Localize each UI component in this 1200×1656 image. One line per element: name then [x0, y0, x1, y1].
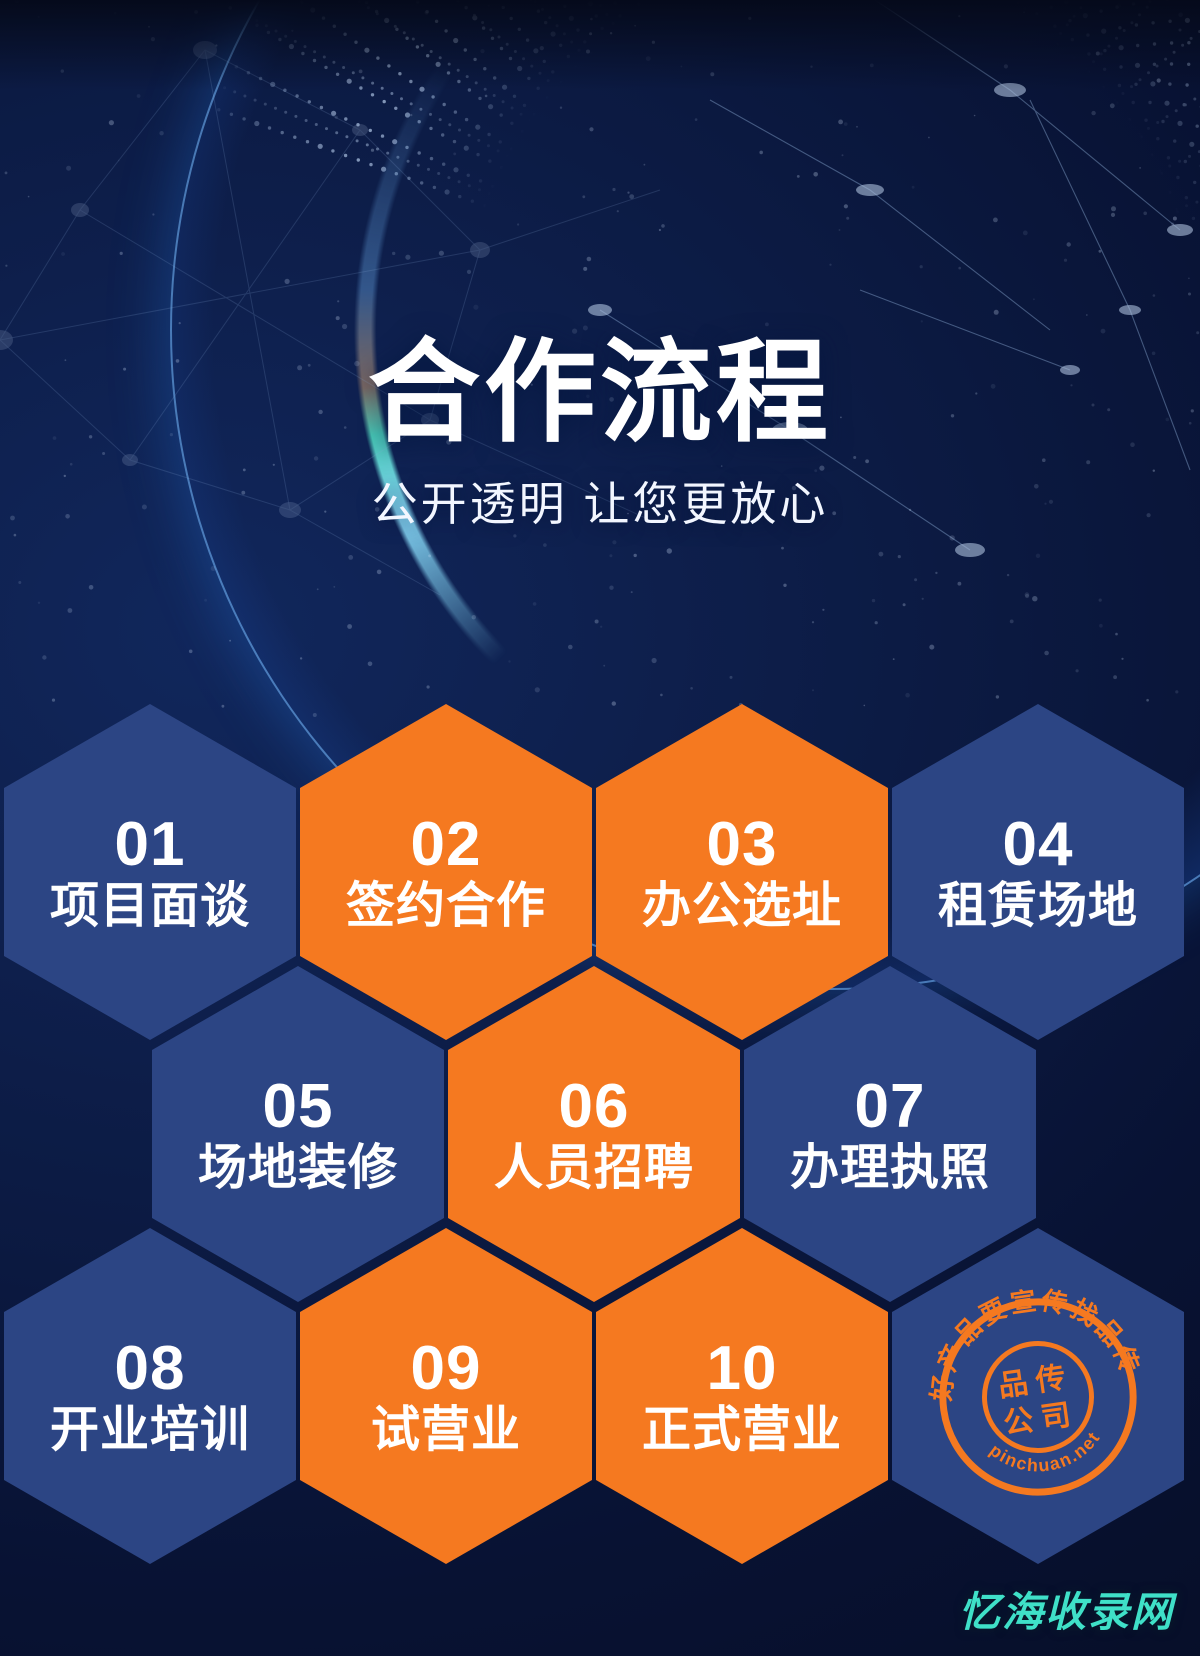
step-number: 08 — [115, 1338, 186, 1400]
step-hex-05[interactable]: 05 场地装修 — [152, 966, 444, 1302]
step-number: 03 — [707, 814, 778, 876]
step-hex-09[interactable]: 09 试营业 — [300, 1228, 592, 1564]
site-watermark: 忆海收录网 — [959, 1578, 1174, 1638]
step-number: 10 — [707, 1338, 778, 1400]
top-vignette — [0, 0, 1200, 90]
step-label: 场地装修 — [198, 1144, 398, 1193]
step-number: 06 — [559, 1076, 630, 1138]
step-label: 正式营业 — [642, 1406, 842, 1455]
poster-canvas: 合作流程 公开透明 让您更放心 01 项目面谈 02 签约合作 03 办公选址 … — [0, 0, 1200, 1656]
stamp-inner-line-1: 品传 — [996, 1360, 1075, 1403]
step-hex-01[interactable]: 01 项目面谈 — [4, 704, 296, 1040]
stamp-inner-line-2: 公司 — [1002, 1397, 1081, 1440]
stamp-hex-cell: 好产品要宣传找品传 pinchuan.net 品传 公司 — [892, 1228, 1184, 1564]
step-label: 办公选址 — [642, 882, 842, 931]
step-hex-02[interactable]: 02 签约合作 — [300, 704, 592, 1040]
step-hex-08[interactable]: 08 开业培训 — [4, 1228, 296, 1564]
step-number: 02 — [411, 814, 482, 876]
step-label: 开业培训 — [50, 1406, 250, 1455]
step-number: 07 — [855, 1076, 926, 1138]
step-label: 人员招聘 — [494, 1144, 694, 1193]
step-label: 办理执照 — [790, 1144, 990, 1193]
heading-block: 合作流程 公开透明 让您更放心 — [0, 334, 1200, 529]
company-seal-stamp: 好产品要宣传找品传 pinchuan.net 品传 公司 — [915, 1274, 1161, 1520]
page-title: 合作流程 — [0, 334, 1200, 453]
step-number: 04 — [1003, 814, 1074, 876]
step-number: 01 — [115, 814, 186, 876]
step-hex-04[interactable]: 04 租赁场地 — [892, 704, 1184, 1040]
page-subtitle: 公开透明 让您更放心 — [0, 479, 1200, 530]
step-hex-06[interactable]: 06 人员招聘 — [448, 966, 740, 1302]
step-number: 09 — [411, 1338, 482, 1400]
step-label: 项目面谈 — [50, 882, 250, 931]
step-hex-03[interactable]: 03 办公选址 — [596, 704, 888, 1040]
step-hex-10[interactable]: 10 正式营业 — [596, 1228, 888, 1564]
step-number: 05 — [263, 1076, 334, 1138]
step-label: 租赁场地 — [938, 882, 1138, 931]
step-label: 签约合作 — [346, 882, 546, 931]
step-hex-07[interactable]: 07 办理执照 — [744, 966, 1036, 1302]
step-label: 试营业 — [371, 1406, 521, 1455]
process-hex-grid: 01 项目面谈 02 签约合作 03 办公选址 04 租赁场地 05 场地装修 … — [0, 690, 1200, 1570]
